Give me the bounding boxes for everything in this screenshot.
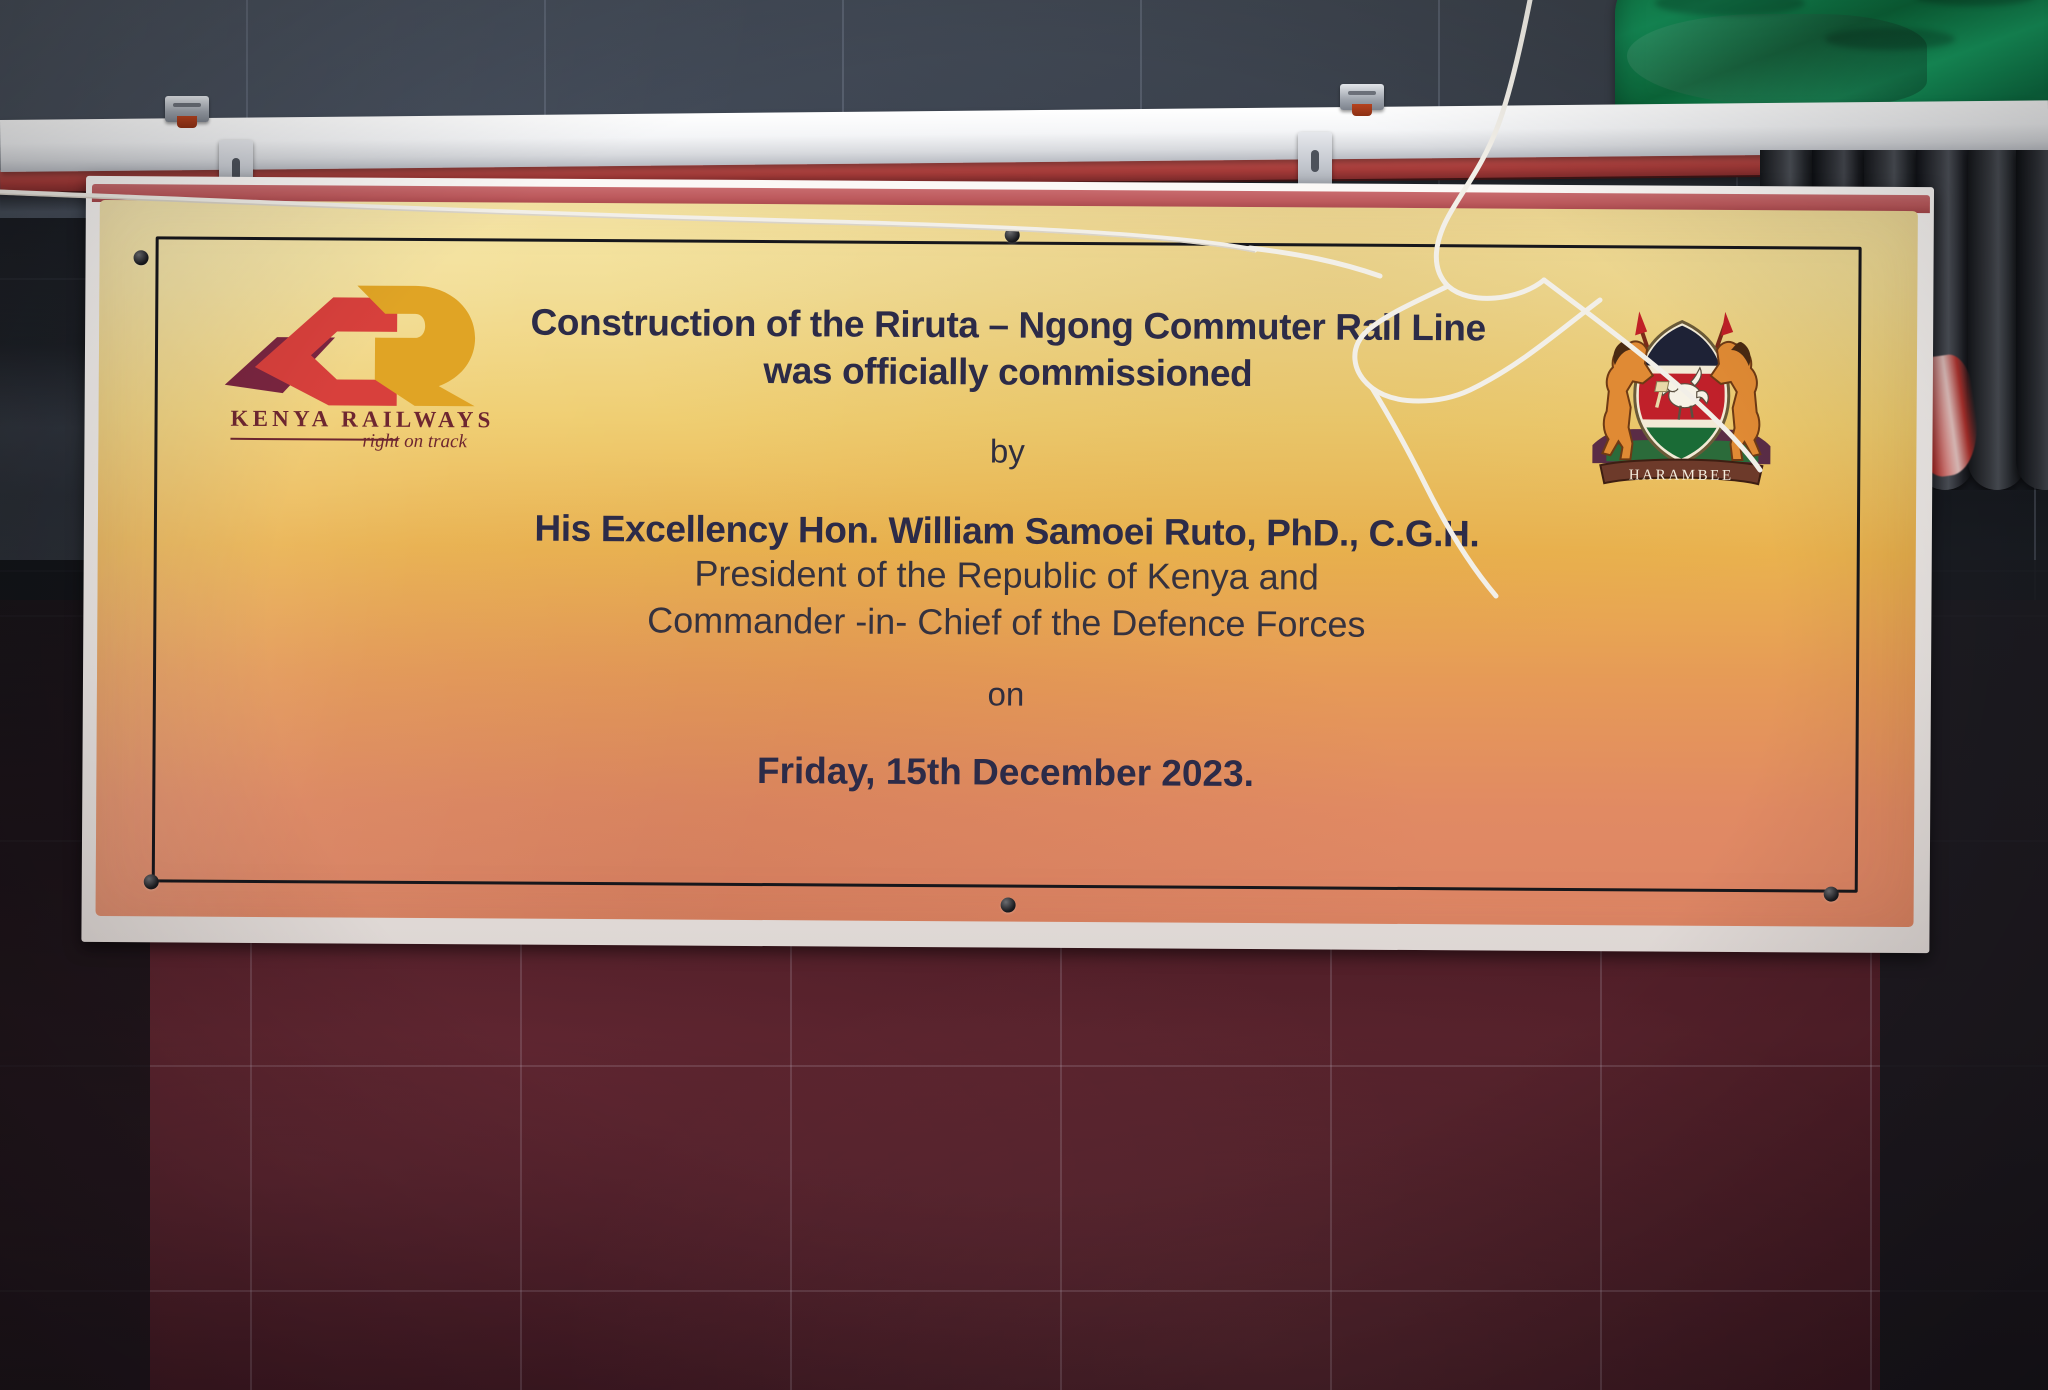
commemorative-plaque: KENYA RAILWAYS right on track bbox=[95, 186, 1919, 937]
rail-bracket-right bbox=[1340, 84, 1384, 110]
plaque-screw-bottom-center bbox=[1001, 898, 1016, 913]
photo-scene: KENYA RAILWAYS right on track bbox=[0, 0, 2048, 1390]
plaque-screw-top-center bbox=[1005, 228, 1020, 243]
plaque-text-block: Construction of the Riruta – Ngong Commu… bbox=[152, 236, 1862, 892]
plaque-face: KENYA RAILWAYS right on track bbox=[96, 200, 1918, 927]
rail-bracket-left bbox=[165, 96, 209, 122]
plaque-screw-top-left bbox=[134, 250, 149, 265]
wall-mount-plate-right bbox=[1298, 132, 1332, 190]
